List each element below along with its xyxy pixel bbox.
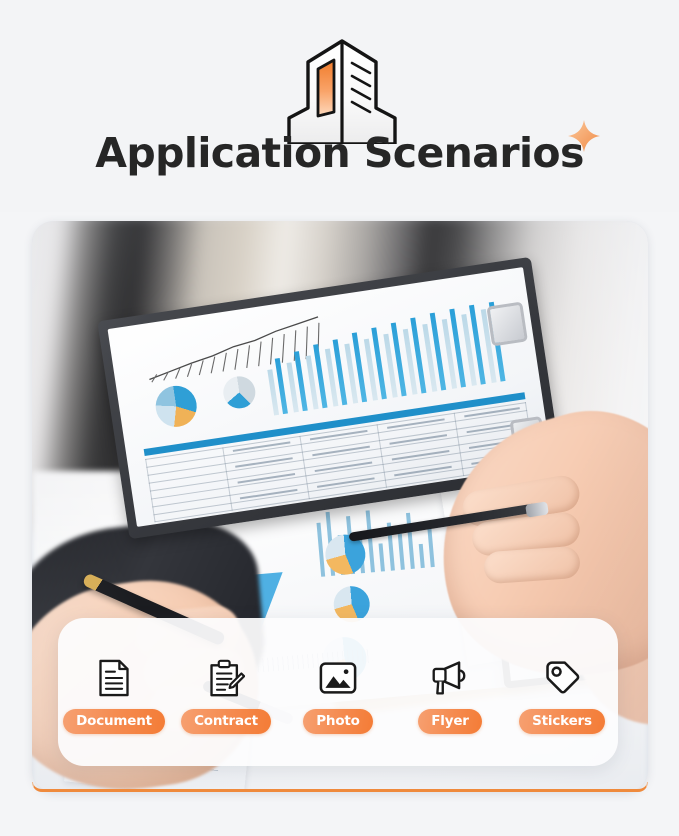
category-label-stickers[interactable]: Stickers xyxy=(519,709,605,734)
category-row: Document Contract xyxy=(58,618,618,766)
category-label-photo[interactable]: Photo xyxy=(303,709,373,734)
sparkle-icon xyxy=(567,119,601,153)
category-item-contract[interactable]: Contract xyxy=(170,656,282,734)
clipboard-clip-top xyxy=(486,302,528,347)
category-label-document[interactable]: Document xyxy=(63,709,165,734)
megaphone-icon xyxy=(428,656,472,700)
category-item-photo[interactable]: Photo xyxy=(282,656,394,734)
pie-chart-2 xyxy=(221,374,257,410)
category-panel: Document Contract xyxy=(58,618,618,766)
pie-chart-1 xyxy=(153,383,200,430)
clipboard-pencil-icon xyxy=(204,656,248,700)
page-title: Application Scenarios xyxy=(95,128,584,178)
header: Application Scenarios xyxy=(0,0,679,212)
category-label-flyer[interactable]: Flyer xyxy=(418,709,481,734)
tag-icon xyxy=(540,656,584,700)
card-bottom-accent xyxy=(32,782,648,792)
finger-ring xyxy=(483,546,581,585)
image-icon xyxy=(316,656,360,700)
category-item-flyer[interactable]: Flyer xyxy=(394,656,506,734)
category-label-contract[interactable]: Contract xyxy=(181,709,271,734)
document-icon xyxy=(92,656,136,700)
category-item-stickers[interactable]: Stickers xyxy=(506,656,618,734)
category-item-document[interactable]: Document xyxy=(58,656,170,734)
